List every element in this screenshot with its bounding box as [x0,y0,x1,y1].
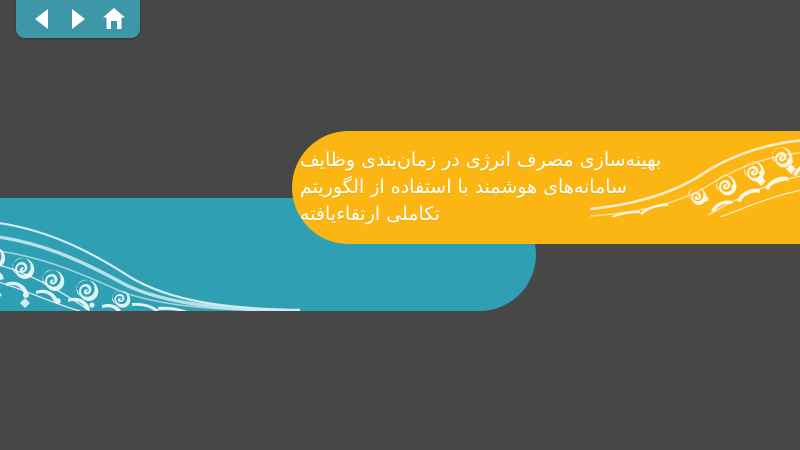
triangle-right-icon [68,8,88,30]
arabesque-ornament-bottom-left-icon [0,198,300,311]
arabesque-ornament-top-right-icon [590,131,800,217]
orange-title-banner [292,131,800,244]
triangle-left-icon [32,8,52,30]
slide-canvas: بهینه‌سازی مصرف انرژی در زمان‌بندی وظایف… [0,0,800,450]
previous-slide-button[interactable] [29,6,55,32]
home-icon [102,7,126,31]
next-slide-button[interactable] [65,6,91,32]
home-slide-button[interactable] [101,6,127,32]
slide-navigation-toolbar [16,0,140,38]
